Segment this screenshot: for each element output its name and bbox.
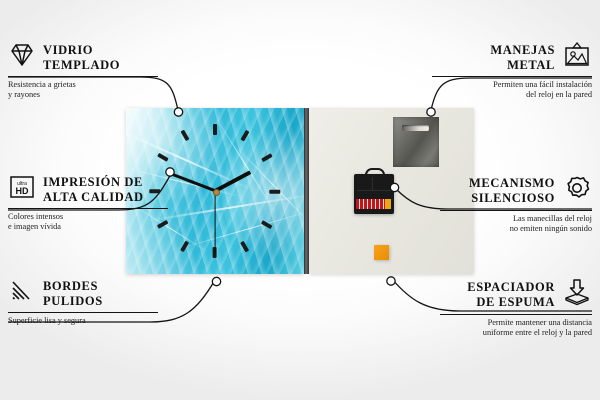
clock-tick xyxy=(213,124,217,135)
feature-divider xyxy=(440,314,592,315)
wall-hanger-frame-icon xyxy=(562,42,592,73)
feature-divider xyxy=(8,208,168,209)
feature-divider xyxy=(432,76,592,77)
infographic-canvas: VIDRIO TEMPLADO Resistencia a grietas y … xyxy=(0,0,600,400)
feature-title: VIDRIO TEMPLADO xyxy=(43,43,120,72)
ultra-hd-icon: ultra HD xyxy=(8,174,36,205)
feature-divider xyxy=(8,312,158,313)
metal-hanger-plate xyxy=(393,117,439,167)
clock-center-pin xyxy=(213,189,220,196)
feature-description: Resistencia a grietas y rayones xyxy=(8,80,158,101)
feature-mecanismo-silencioso: MECANISMO SILENCIOSO Las manecillas del … xyxy=(440,174,592,235)
feature-manejas-metal: MANEJAS METAL Permiten una fácil instala… xyxy=(432,42,592,101)
feature-description: Permite mantener una distancia uniforme … xyxy=(440,318,592,339)
connector-dot-espaciador xyxy=(387,277,395,285)
feature-espaciador-espuma: ESPACIADOR DE ESPUMA Permite mantener un… xyxy=(440,278,592,339)
foam-spacer-icon xyxy=(562,278,592,311)
feature-bordes-pulidos: BORDES PULIDOS Superficie lisa y segura xyxy=(8,278,158,326)
clock-tick xyxy=(269,189,280,193)
feature-description: Permiten una fácil instalación del reloj… xyxy=(432,80,592,101)
gear-icon xyxy=(562,174,592,207)
quartz-movement xyxy=(354,168,394,214)
polished-edges-icon xyxy=(8,278,36,309)
svg-text:HD: HD xyxy=(16,186,29,196)
feature-impresion-alta-calidad: ultra HD IMPRESIÓN DE ALTA CALIDAD Color… xyxy=(8,174,168,233)
feature-divider xyxy=(8,76,158,77)
feature-description: Las manecillas del reloj no emiten ningú… xyxy=(440,214,592,235)
feature-description: Superficie lisa y segura xyxy=(8,316,158,326)
feature-title: BORDES PULIDOS xyxy=(43,279,103,308)
clock-second-hand xyxy=(214,191,215,253)
feature-divider xyxy=(440,210,592,211)
feature-description: Colores intensos e imagen vívida xyxy=(8,212,168,233)
feature-title: ESPACIADOR DE ESPUMA xyxy=(467,280,555,309)
feature-title: MECANISMO SILENCIOSO xyxy=(469,176,555,205)
connector-dot-bordes xyxy=(212,277,220,285)
diamond-icon xyxy=(8,42,36,73)
feature-title: IMPRESIÓN DE ALTA CALIDAD xyxy=(43,175,144,204)
product-image xyxy=(126,108,474,276)
feature-title: MANEJAS METAL xyxy=(490,43,555,72)
feature-vidrio-templado: VIDRIO TEMPLADO Resistencia a grietas y … xyxy=(8,42,158,101)
foam-spacer-pad xyxy=(374,245,389,260)
